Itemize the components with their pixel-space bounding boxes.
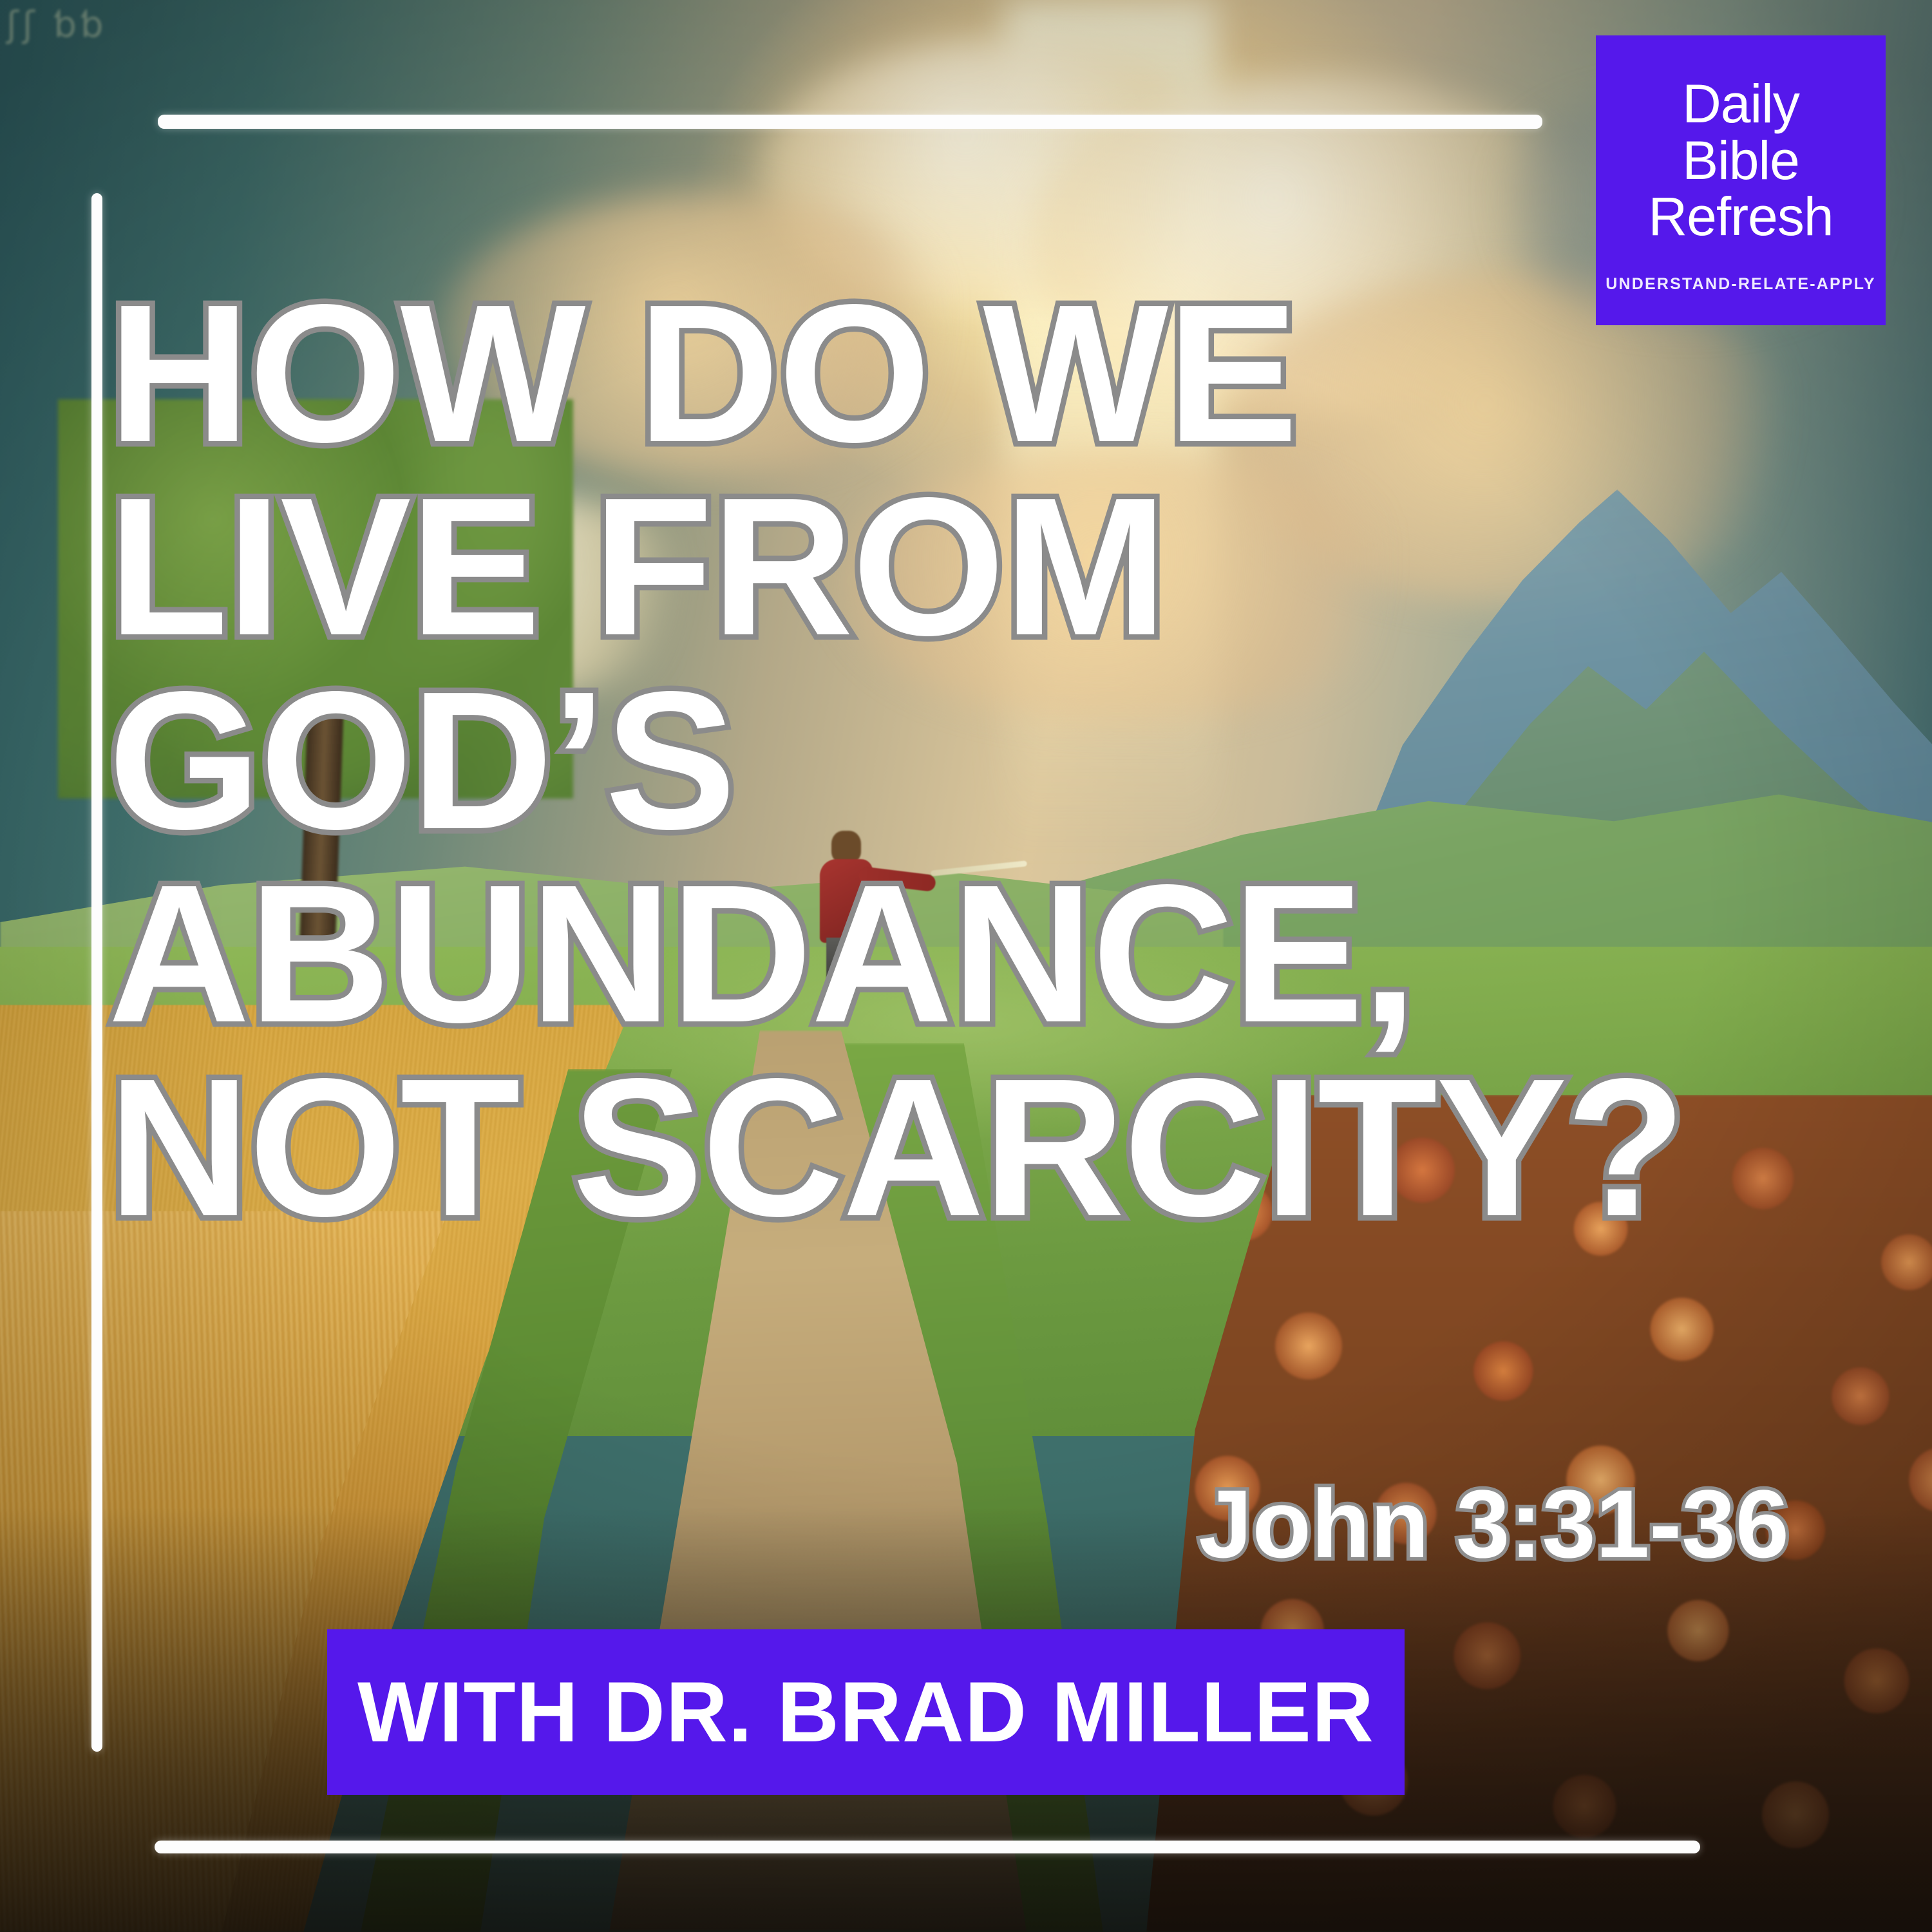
title-line: GOD’S [108, 664, 1834, 857]
decorative-rule-top [158, 115, 1542, 129]
logo-line-3: Refresh [1648, 186, 1833, 247]
title-line: LIVE FROM [108, 470, 1834, 663]
logo-line-1: Daily [1682, 73, 1799, 134]
decorative-rule-left [91, 193, 102, 1752]
podcast-cover-art: ʃʃ ƅƅ Daily Bible Refresh UNDERSTAND-REL… [0, 0, 1932, 1932]
logo-line-2: Bible [1682, 130, 1799, 191]
scripture-reference: John 3:31-36 [1198, 1468, 1789, 1580]
decorative-rule-bottom [155, 1841, 1700, 1853]
title-line: ABUNDANCE, [108, 857, 1834, 1050]
episode-title: HOW DO WE LIVE FROM GOD’S ABUNDANCE, NOT… [108, 277, 1834, 1244]
title-line: NOT SCARCITY? [108, 1051, 1834, 1244]
title-line: HOW DO WE [108, 277, 1834, 470]
host-banner[interactable]: WITH DR. BRAD MILLER [327, 1629, 1405, 1795]
host-name-label: WITH DR. BRAD MILLER [357, 1663, 1374, 1761]
logo-wordmark: Daily Bible Refresh [1648, 76, 1833, 245]
